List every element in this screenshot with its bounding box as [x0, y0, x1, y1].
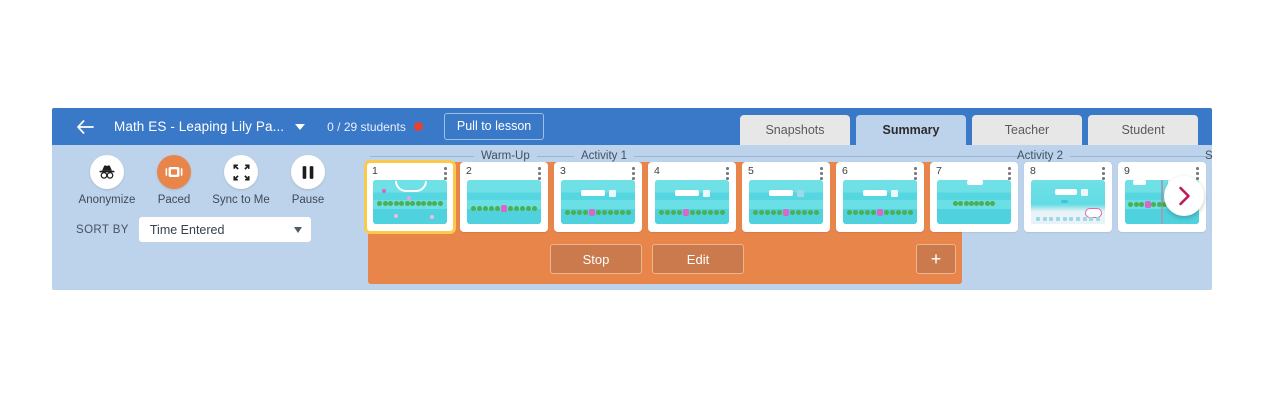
- sync-to-me-label: Sync to Me: [212, 194, 270, 206]
- slide-number: 4: [654, 165, 660, 177]
- paced-action-bar: Stop Edit +: [368, 244, 962, 278]
- slide-number: 6: [842, 165, 848, 177]
- next-slides-button[interactable]: [1164, 176, 1204, 216]
- sync-to-me-button[interactable]: Sync to Me: [210, 155, 272, 206]
- slide-thumbnail-4[interactable]: 4: [648, 162, 736, 232]
- slide-preview: [749, 180, 823, 224]
- slide-number: 1: [372, 165, 378, 177]
- slide-thumbnail-6[interactable]: 6: [836, 162, 924, 232]
- view-tabs: Snapshots Summary Teacher Student: [740, 115, 1198, 145]
- slide-number: 5: [748, 165, 754, 177]
- header-left-group: Math ES - Leaping Lily Pa... 0 / 29 stud…: [52, 108, 544, 145]
- slide-preview: [843, 180, 917, 224]
- slide-thumbnail-7[interactable]: 7: [930, 162, 1018, 232]
- lesson-dashboard-panel: Math ES - Leaping Lily Pa... 0 / 29 stud…: [52, 108, 1212, 290]
- slide-thumbnail-8[interactable]: 8: [1024, 162, 1112, 232]
- slide-thumbnail-2[interactable]: 2: [460, 162, 548, 232]
- anonymize-button[interactable]: Anonymize: [76, 155, 138, 206]
- anonymize-label: Anonymize: [79, 194, 136, 206]
- section-activity-2-label: Activity 2: [1010, 150, 1070, 162]
- slide-number: 8: [1030, 165, 1036, 177]
- section-synthesis-label: Synthe: [1198, 150, 1212, 162]
- chevron-down-icon[interactable]: [295, 124, 305, 130]
- paced-slide-icon: [157, 155, 191, 189]
- slide-preview: [937, 180, 1011, 224]
- slide-preview: [467, 180, 541, 224]
- chevron-down-icon: [294, 227, 302, 233]
- section-warm-up-label: Warm-Up: [474, 150, 537, 162]
- slide-list: 1 2: [366, 162, 1212, 234]
- tab-summary[interactable]: Summary: [856, 115, 966, 145]
- lesson-title[interactable]: Math ES - Leaping Lily Pa...: [114, 119, 284, 134]
- recording-dot-icon: [414, 122, 423, 131]
- sync-arrows-icon: [224, 155, 258, 189]
- pause-label: Pause: [292, 194, 325, 206]
- slide-thumbnail-3[interactable]: 3: [554, 162, 642, 232]
- slide-number: 9: [1124, 165, 1130, 177]
- arrow-left-icon[interactable]: [74, 116, 96, 138]
- tab-student[interactable]: Student: [1088, 115, 1198, 145]
- slide-thumbnail-1[interactable]: 1: [366, 162, 454, 232]
- app-header: Math ES - Leaping Lily Pa... 0 / 29 stud…: [52, 108, 1212, 145]
- slide-number: 7: [936, 165, 942, 177]
- control-buttons-row: Anonymize Paced: [52, 145, 366, 206]
- tab-teacher[interactable]: Teacher: [972, 115, 1082, 145]
- edit-button[interactable]: Edit: [652, 244, 744, 274]
- slide-thumbnail-5[interactable]: 5: [742, 162, 830, 232]
- slide-preview: [561, 180, 635, 224]
- stop-button[interactable]: Stop: [550, 244, 642, 274]
- pause-icon: [291, 155, 325, 189]
- paced-label: Paced: [158, 194, 191, 206]
- sort-by-value: Time Entered: [150, 223, 225, 237]
- student-count-label: 0 / 29 students: [327, 120, 406, 134]
- slide-number: 2: [466, 165, 472, 177]
- paced-button[interactable]: Paced: [143, 155, 205, 206]
- section-activity-1-label: Activity 1: [574, 150, 634, 162]
- add-slide-button[interactable]: +: [916, 244, 956, 274]
- slide-number: 3: [560, 165, 566, 177]
- slide-preview: [1031, 180, 1105, 224]
- control-column: Anonymize Paced: [52, 145, 366, 290]
- chevron-right-icon: [1176, 186, 1193, 206]
- sort-by-label: SORT BY: [76, 224, 129, 236]
- tab-snapshots[interactable]: Snapshots: [740, 115, 850, 145]
- slide-preview: [655, 180, 729, 224]
- sort-row: SORT BY Time Entered: [52, 206, 366, 242]
- pull-to-lesson-button[interactable]: Pull to lesson: [444, 113, 544, 140]
- pause-button[interactable]: Pause: [277, 155, 339, 206]
- sort-by-select[interactable]: Time Entered: [139, 217, 311, 242]
- incognito-hat-icon: [90, 155, 124, 189]
- slide-strip: 1 2: [366, 162, 1212, 290]
- slide-preview: [373, 180, 447, 224]
